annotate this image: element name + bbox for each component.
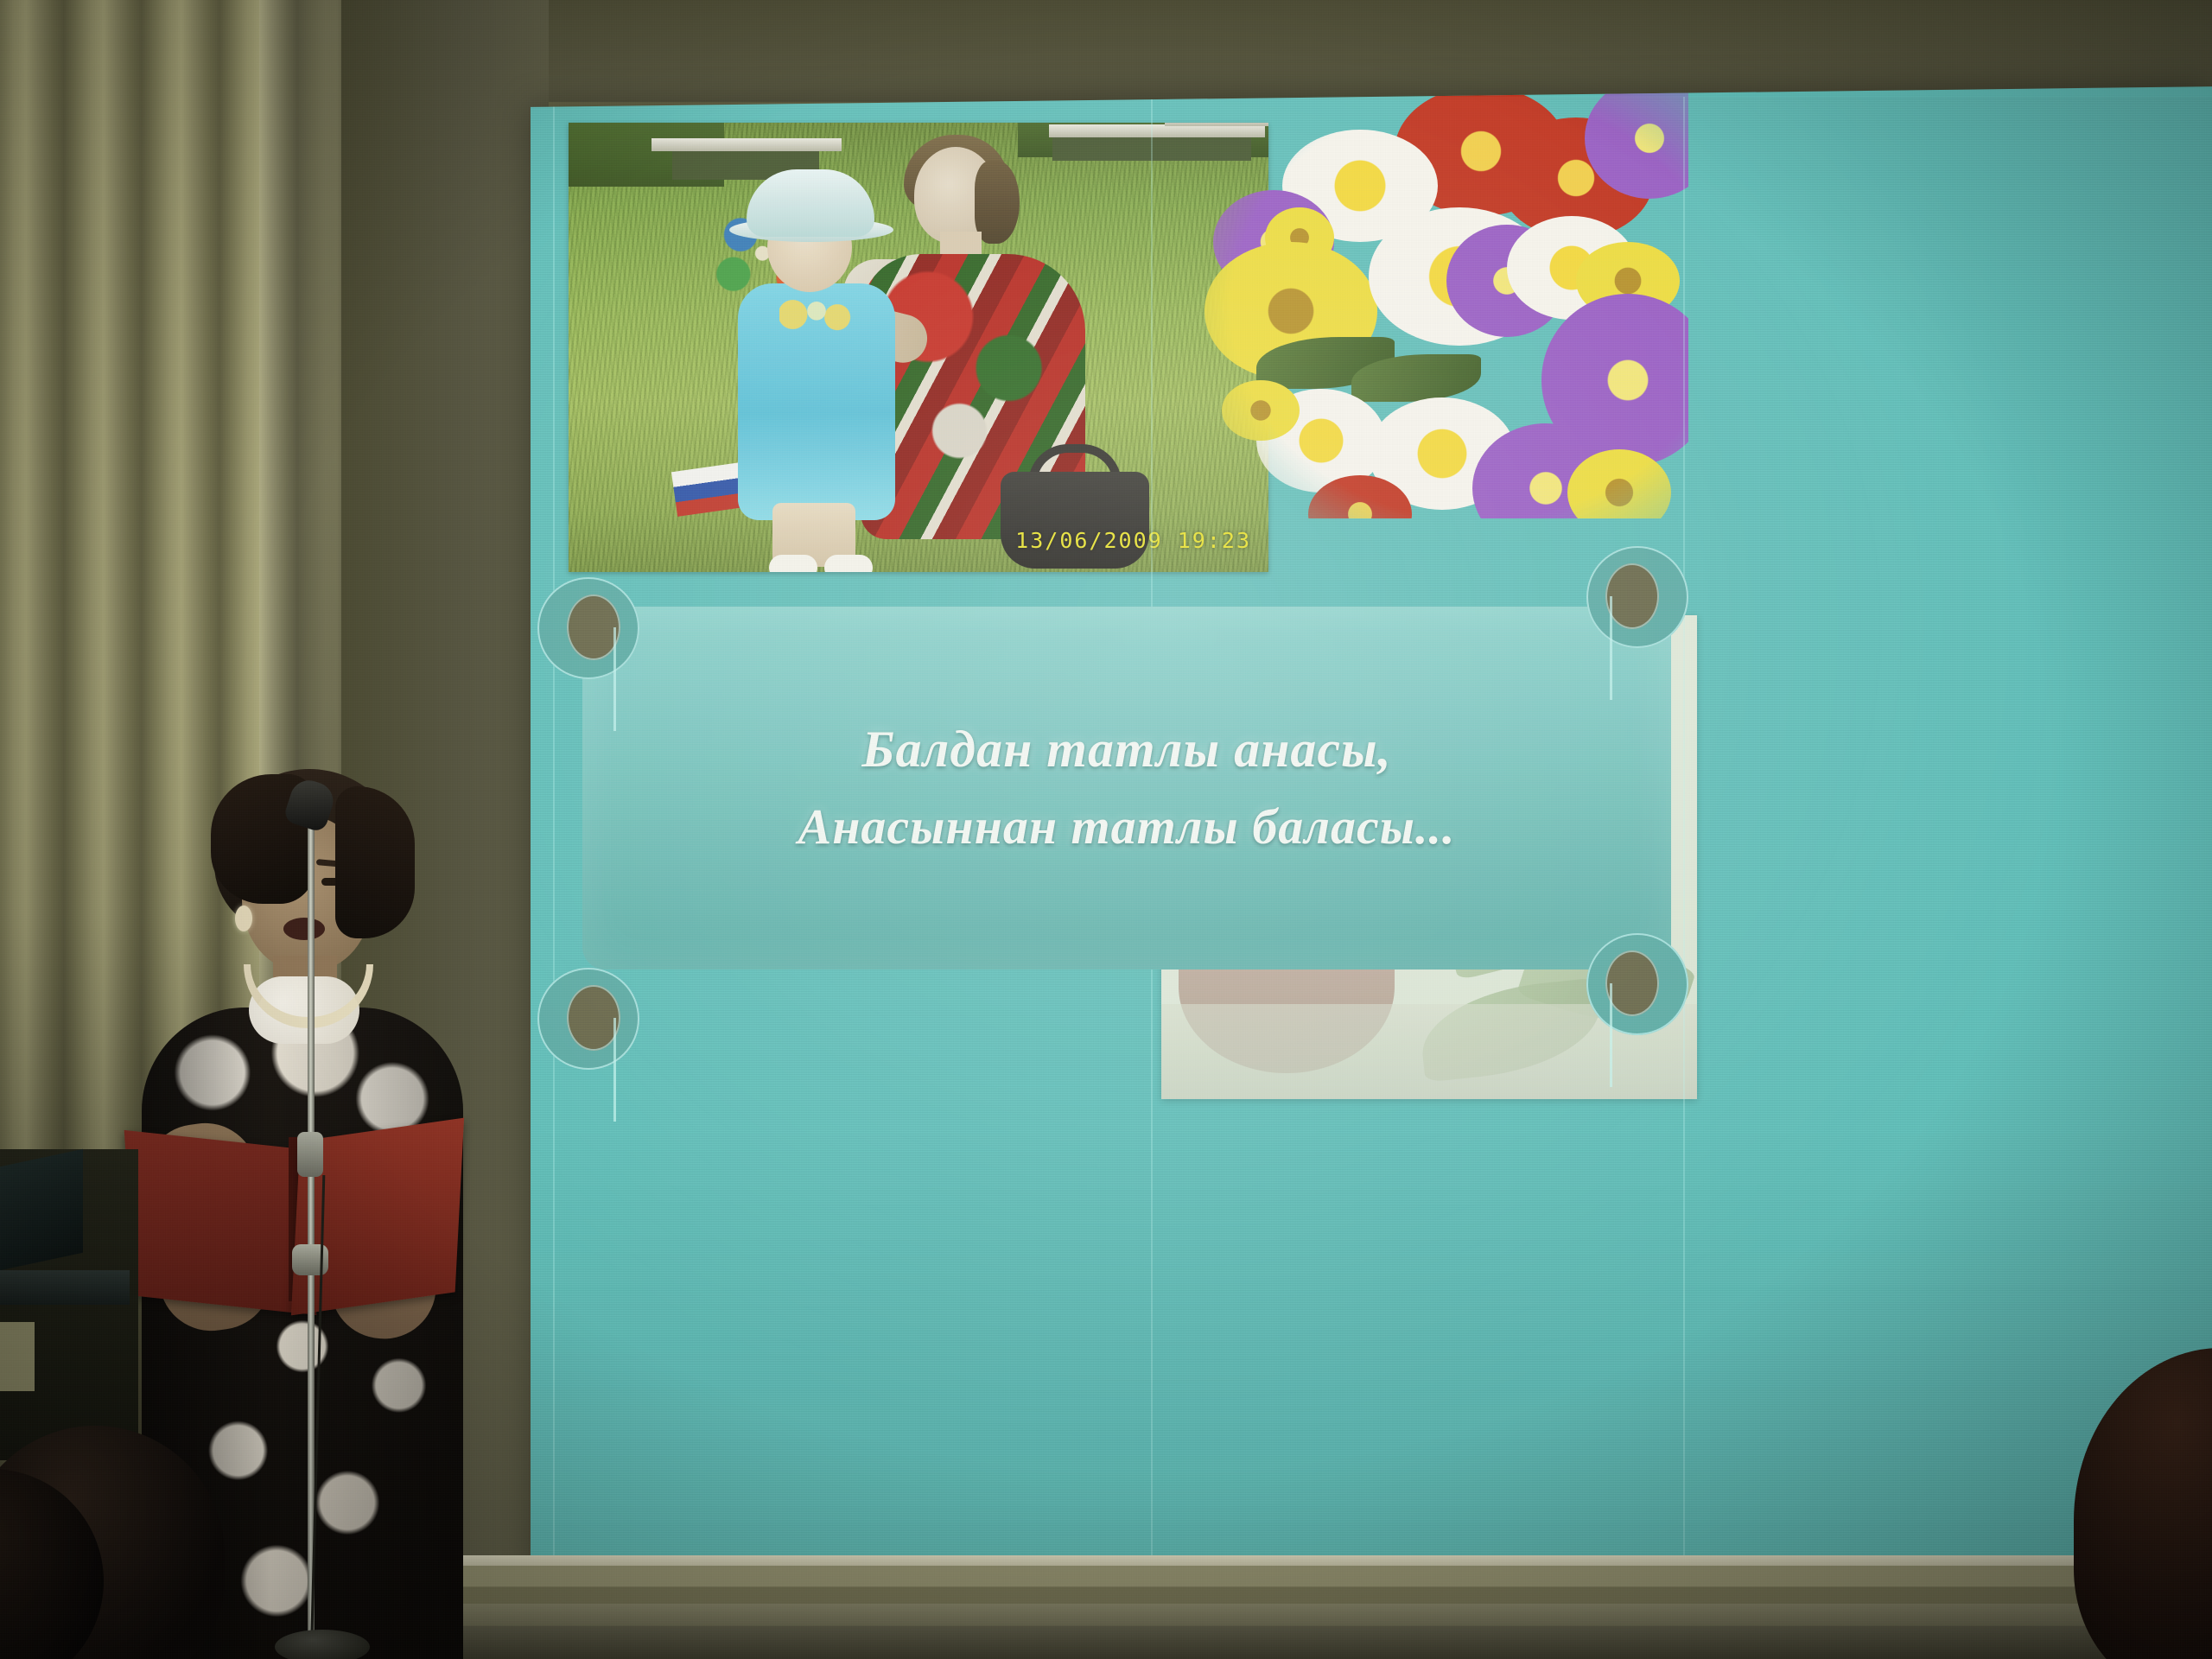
stage-floor-reflection (341, 1604, 2212, 1659)
scroll-curl-bottom-left (537, 968, 639, 1070)
flower-bouquet-photo (1135, 86, 1688, 518)
slide-couplet-text: Балдан татлы анасы, Анасыннан татлы бала… (582, 607, 1671, 969)
couplet-line-1: Балдан татлы анасы, (861, 718, 1391, 781)
reading-folder (124, 1130, 317, 1315)
wall-band-above-screen (341, 0, 2212, 102)
child-sun-hat (747, 169, 874, 237)
photo-timestamp: 13/06/2009 19:23 (1015, 528, 1251, 553)
projection-screen: 13/06/2009 19:23 (531, 86, 2212, 1576)
handbag (1001, 472, 1149, 569)
screenshot-root: 13/06/2009 19:23 (0, 0, 2212, 1659)
pearl-earring (235, 906, 252, 931)
monitor-screen (0, 1149, 83, 1270)
couplet-line-2: Анасыннан татлы баласы... (798, 797, 1456, 858)
